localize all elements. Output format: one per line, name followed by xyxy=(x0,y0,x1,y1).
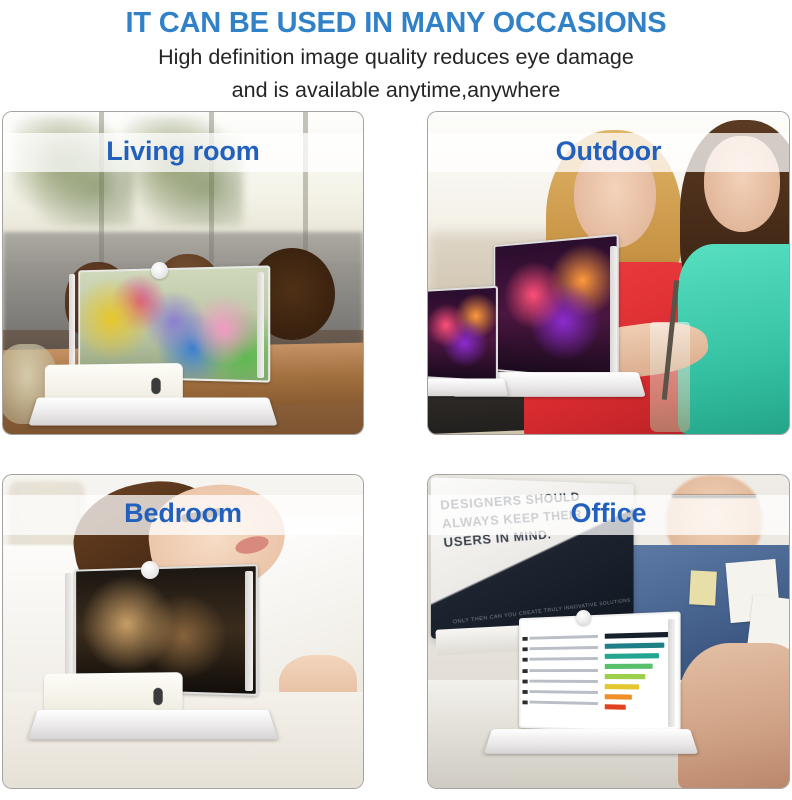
screen-magnifier-device-bedroom xyxy=(53,567,283,757)
magnifier-arm-right xyxy=(610,246,617,374)
scene-grid: Living room xyxy=(0,0,792,800)
magnifier-lens xyxy=(519,611,681,734)
scene-panel-bedroom: Bedroom xyxy=(3,475,363,788)
scene-label-bedroom: Bedroom xyxy=(3,498,363,529)
magnifier-knob xyxy=(141,561,159,579)
screen-magnifier-device-office xyxy=(502,615,702,765)
phone-camera xyxy=(151,378,160,394)
magnifier-base xyxy=(28,710,278,740)
sticky-note-1 xyxy=(689,570,717,605)
screen-magnifier-device-living-room xyxy=(55,268,285,434)
scene-panel-outdoor: Outdoor xyxy=(428,112,789,434)
bedroom-photo: Bedroom xyxy=(3,475,363,788)
magnifier-base xyxy=(428,379,508,397)
living-room-photo: Living room xyxy=(3,112,363,434)
scene-panel-office: Designers should always keep their users… xyxy=(428,475,789,788)
magnifier-arm-right xyxy=(257,272,264,378)
magnifier-arm-right xyxy=(668,619,675,727)
scene-panel-living-room: Living room xyxy=(3,112,363,434)
outdoor-photo: Outdoor xyxy=(428,112,789,434)
scene-label-office: Office xyxy=(428,498,789,529)
magnifier-knob xyxy=(576,610,591,625)
office-photo: Designers should always keep their users… xyxy=(428,475,789,788)
screen-magnifier-device-outdoor-secondary xyxy=(428,288,516,408)
magnifier-lens xyxy=(428,286,498,383)
scene-label-outdoor: Outdoor xyxy=(428,136,789,167)
magnifier-arm-right xyxy=(245,571,253,691)
spreadsheet-content xyxy=(521,614,679,733)
magnifier-knob xyxy=(151,262,168,279)
magnifier-base xyxy=(28,397,277,425)
scene-label-living-room: Living room xyxy=(3,136,363,167)
magnifier-arm-left xyxy=(65,573,72,687)
magnifier-arm-left xyxy=(69,274,75,374)
magnifier-base xyxy=(484,729,698,754)
phone-camera xyxy=(153,688,162,705)
